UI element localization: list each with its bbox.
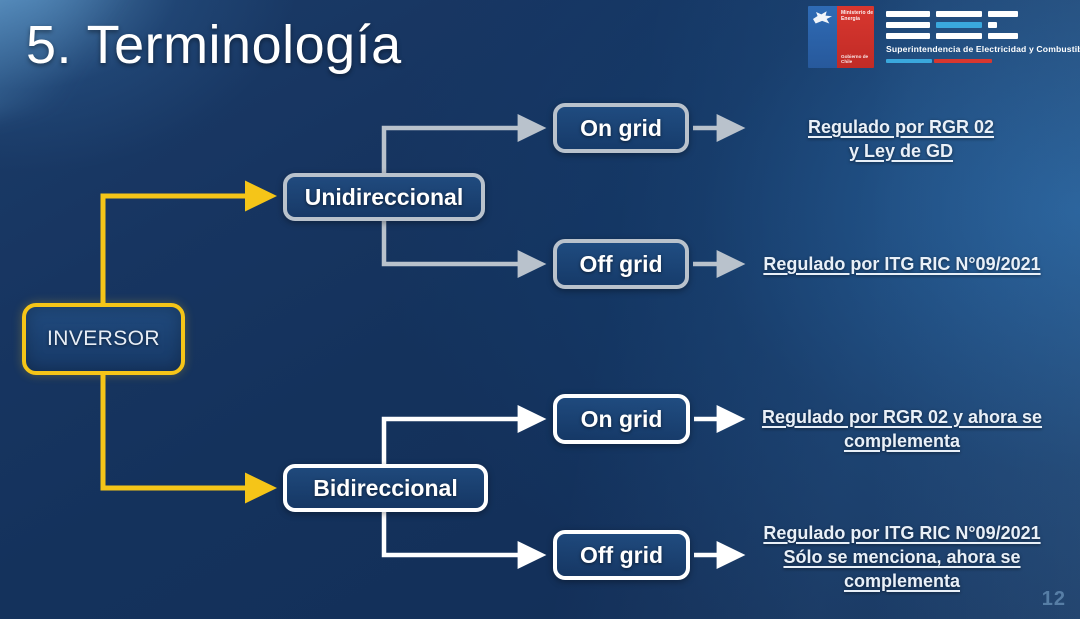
note-line: Sólo se menciona, ahora se	[752, 546, 1052, 570]
terminology-flowchart: INVERSOR Unidireccional On grid Off grid…	[0, 0, 1080, 619]
node-unidireccional-on-grid[interactable]: On grid	[553, 103, 689, 153]
note-unidireccional-off-grid: Regulado por ITG RIC N°09/2021	[752, 253, 1052, 277]
node-unidireccional-off-grid-label: Off grid	[579, 251, 662, 278]
node-bidireccional-on-grid[interactable]: On grid	[553, 394, 690, 444]
slide-canvas: 5. Terminología Ministerio de Energía Go…	[0, 0, 1080, 619]
node-inversor-label: INVERSOR	[47, 327, 160, 351]
node-bidireccional-off-grid-label: Off grid	[580, 542, 663, 569]
node-bidireccional-off-grid[interactable]: Off grid	[553, 530, 690, 580]
node-bidireccional[interactable]: Bidireccional	[283, 464, 488, 512]
node-unidireccional-on-grid-label: On grid	[580, 115, 662, 142]
note-line: Regulado por RGR 02 y ahora se	[752, 406, 1052, 430]
note-unidireccional-on-grid: Regulado por RGR 02 y Ley de GD	[752, 116, 1050, 164]
note-bidireccional-off-grid: Regulado por ITG RIC N°09/2021 Sólo se m…	[752, 522, 1052, 593]
node-unidireccional[interactable]: Unidireccional	[283, 173, 485, 221]
node-bidireccional-on-grid-label: On grid	[581, 406, 663, 433]
note-line: Regulado por RGR 02	[752, 116, 1050, 140]
note-bidireccional-on-grid: Regulado por RGR 02 y ahora se complemen…	[752, 406, 1052, 454]
node-unidireccional-off-grid[interactable]: Off grid	[553, 239, 689, 289]
note-line: y Ley de GD	[752, 140, 1050, 164]
note-line: complementa	[752, 570, 1052, 594]
note-line: Regulado por ITG RIC N°09/2021	[752, 522, 1052, 546]
node-bidireccional-label: Bidireccional	[313, 475, 457, 502]
note-line: complementa	[752, 430, 1052, 454]
note-line: Regulado por ITG RIC N°09/2021	[752, 253, 1052, 277]
page-number: 12	[1042, 588, 1066, 611]
node-unidireccional-label: Unidireccional	[305, 184, 463, 211]
node-inversor[interactable]: INVERSOR	[22, 303, 185, 375]
